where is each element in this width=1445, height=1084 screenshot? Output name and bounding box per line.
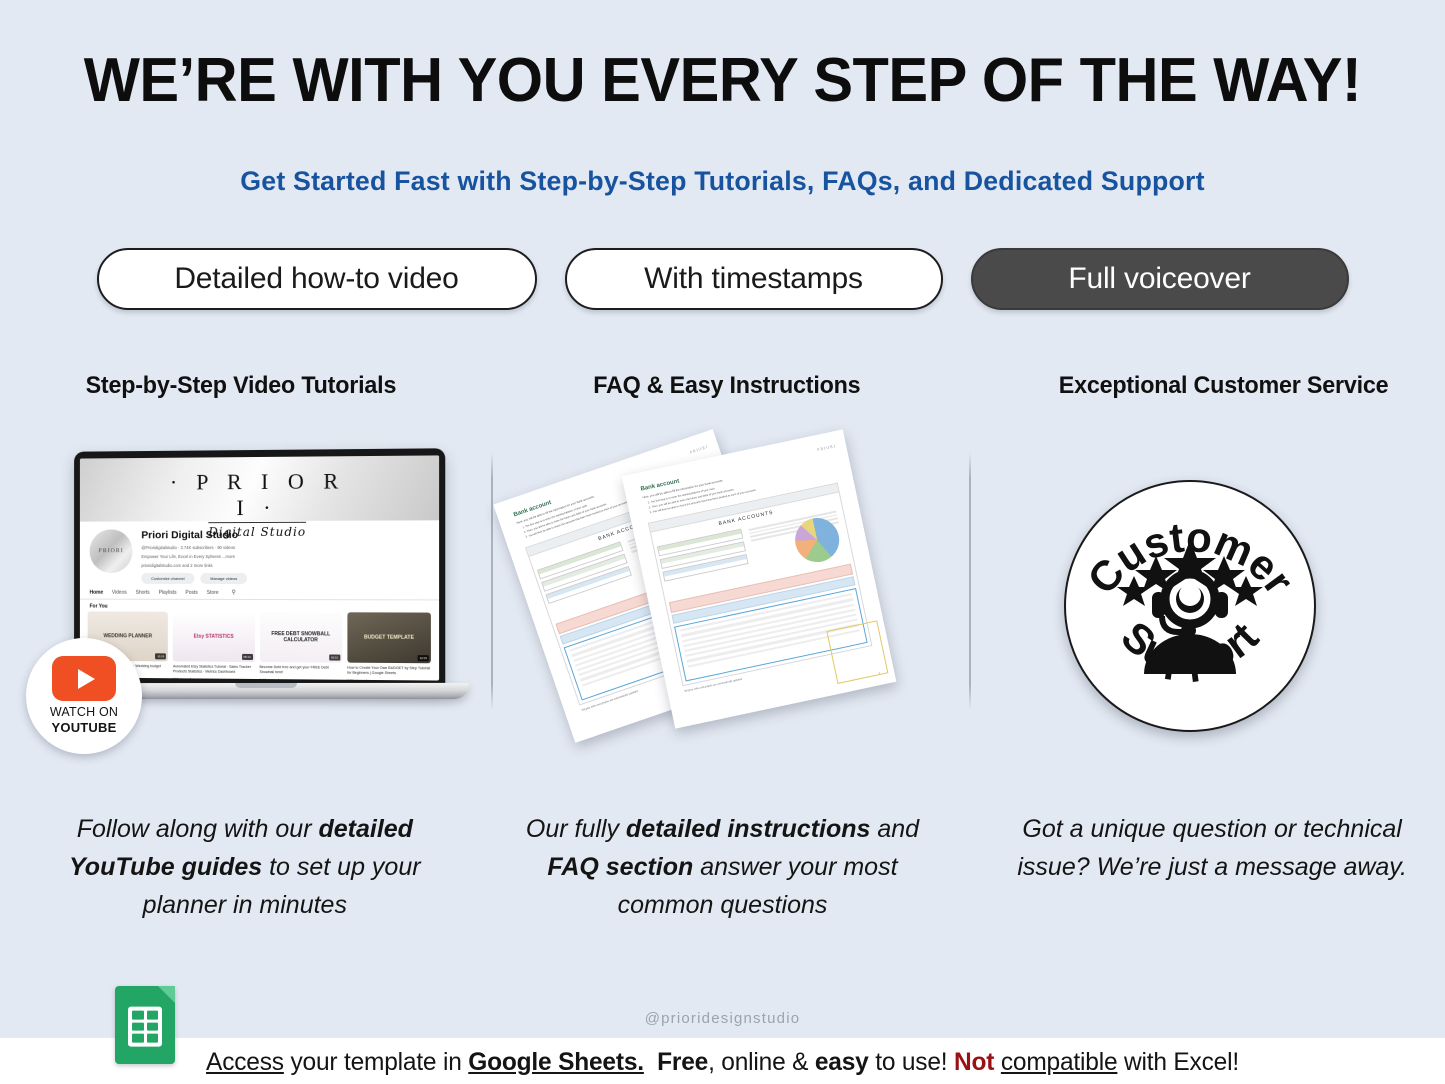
channel-tagline: Empower Your Life, Excel in Every Sphere… <box>141 553 429 560</box>
video-stats: 3.7K views · 1 year ago <box>347 679 431 681</box>
footer-part2: , online & <box>708 1048 815 1076</box>
caption-customer-service: Got a unique question or technical issue… <box>963 810 1445 924</box>
youtube-channel-screen: · P R I O R I · Digital Studio PRIORI Pr… <box>80 455 439 680</box>
column-heading-customer-service: Exceptional Customer Service <box>975 372 1445 400</box>
column-captions: Follow along with our detailed YouTube g… <box>0 810 1445 924</box>
video-duration: 12:03 <box>418 655 429 661</box>
column-heading-video-tutorials: Step-by-Step Video Tutorials <box>7 372 478 400</box>
channel-action-buttons: Customize channel Manage videos <box>141 573 429 584</box>
support-badge-graphic: Customer Support <box>1066 482 1314 730</box>
channel-avatar: PRIORI <box>90 529 133 573</box>
footer-not: Not <box>954 1048 994 1076</box>
caption-text: Our fully <box>526 815 626 843</box>
customer-support-circle: Customer Support <box>1064 480 1316 732</box>
caption-bold: FAQ section <box>547 853 693 881</box>
column-headings: Step-by-Step Video Tutorials FAQ & Easy … <box>0 372 1445 400</box>
google-sheets-icon <box>115 986 175 1064</box>
search-icon[interactable]: ⚲ <box>231 589 235 596</box>
brand-name: · P R I O R I · <box>168 468 348 521</box>
pill-detailed-how-to-video[interactable]: Detailed how-to video <box>97 248 537 310</box>
page-title: WE’RE WITH YOU EVERY STEP OF THE WAY! <box>29 46 1416 116</box>
video-card[interactable]: BUDGET TEMPLATE 12:03 How to Create Your… <box>347 612 431 680</box>
video-thumbnail[interactable]: BUDGET TEMPLATE 12:03 <box>347 612 431 663</box>
video-title: Become Debt free and get your FREE Debt … <box>259 665 342 677</box>
caption-faq: Our fully detailed instructions and FAQ … <box>482 810 964 924</box>
tab-shorts[interactable]: Shorts <box>136 589 150 595</box>
channel-links[interactable]: prioridigitalstudio.com and 2 more links <box>141 562 429 569</box>
caption-video-tutorials: Follow along with our detailed YouTube g… <box>0 810 482 924</box>
footer-easy: easy <box>815 1048 869 1076</box>
footer-compatible: compatible <box>1001 1048 1118 1076</box>
page-fold <box>158 986 175 1003</box>
tab-posts[interactable]: Posts <box>185 589 197 595</box>
channel-banner: · P R I O R I · Digital Studio <box>80 455 439 521</box>
footer-part1: your template in <box>284 1048 468 1076</box>
watch-badge-line1: WATCH ON <box>50 705 118 720</box>
video-card[interactable]: Etsy STATISTICS 08:14 Automated Etsy Sta… <box>173 612 254 681</box>
customize-channel-button[interactable]: Customize channel <box>141 573 194 584</box>
tab-store[interactable]: Store <box>207 589 219 595</box>
watermark-handle: @prioridesignstudio <box>0 1010 1445 1027</box>
pill-full-voiceover[interactable]: Full voiceover <box>971 248 1349 310</box>
video-duration: 08:14 <box>242 654 253 660</box>
footer-space2 <box>994 1048 1001 1076</box>
footer-spacer <box>644 1048 657 1076</box>
video-thumb-title: WEDDING PLANNER <box>103 633 152 639</box>
pill-with-timestamps[interactable]: With timestamps <box>565 248 943 310</box>
headset-agent-icon <box>1144 574 1236 674</box>
laptop-lid: · P R I O R I · Digital Studio PRIORI Pr… <box>74 448 445 689</box>
channel-tabs: Home Videos Shorts Playlists Posts Store… <box>80 586 439 601</box>
video-thumbnail[interactable]: Etsy STATISTICS 08:14 <box>173 612 254 662</box>
faq-document-mockup: PRIORI Bank account Here, you will be ab… <box>520 450 940 760</box>
watch-on-youtube-badge[interactable]: WATCH ON YOUTUBE <box>26 638 142 754</box>
footer-google-sheets: Google Sheets. <box>468 1048 644 1076</box>
video-title: Automated Etsy Statistics Tutorial · Sal… <box>173 664 254 675</box>
footer-free: Free <box>657 1048 708 1076</box>
caption-text: and <box>870 815 919 843</box>
footer-part3: to use! <box>869 1048 954 1076</box>
column-heading-faq: FAQ & Easy Instructions <box>493 372 960 400</box>
video-stats: 517 views · 1 year ago <box>173 677 254 680</box>
youtube-play-icon <box>52 656 116 701</box>
video-thumb-title: FREE DEBT SNOWBALL CALCULATOR <box>259 631 342 643</box>
channel-handle: @Prioridigitalstudio · 3.74K subscribers… <box>141 544 429 551</box>
footer-part4: with Excel! <box>1117 1048 1239 1076</box>
manage-videos-button[interactable]: Manage videos <box>200 573 247 584</box>
video-duration: 06:52 <box>329 654 340 660</box>
watch-badge-line2: YOUTUBE <box>52 720 117 736</box>
column-divider-right <box>969 452 971 710</box>
brand-tagline: Digital Studio <box>208 522 306 539</box>
customer-support-badge: Customer Support <box>1064 480 1336 730</box>
feature-pill-row: Detailed how-to video With timestamps Fu… <box>0 244 1445 314</box>
channel-banner-logo: · P R I O R I · Digital Studio <box>168 468 348 541</box>
video-thumb-title: BUDGET TEMPLATE <box>364 635 414 641</box>
video-title: How to Create Your Own BUDGET by Step Tu… <box>347 666 431 678</box>
video-stats: 1.6K views · 1 year ago <box>259 678 342 681</box>
poster-canvas: WE’RE WITH YOU EVERY STEP OF THE WAY! Ge… <box>0 0 1445 1084</box>
caption-text: Follow along with our <box>77 815 319 843</box>
tab-playlists[interactable]: Playlists <box>159 589 177 595</box>
caption-text: Got a unique question or technical issue… <box>1017 815 1407 881</box>
tab-videos[interactable]: Videos <box>112 589 127 595</box>
embedded-spreadsheet: BANK ACCOUNTS <box>648 483 872 687</box>
video-thumb-title: Etsy STATISTICS <box>194 634 234 640</box>
page-subtitle: Get Started Fast with Step-by-Step Tutor… <box>7 163 1438 199</box>
tab-home[interactable]: Home <box>90 589 104 595</box>
video-card[interactable]: FREE DEBT SNOWBALL CALCULATOR 06:52 Beco… <box>259 612 342 681</box>
column-divider-left <box>491 452 493 710</box>
video-thumbnail[interactable]: FREE DEBT SNOWBALL CALCULATOR 06:52 <box>259 612 342 663</box>
footer-compatibility-line: Access your template in Google Sheets. F… <box>14 1046 1430 1078</box>
caption-bold: detailed instructions <box>626 815 870 843</box>
footer-access: Access <box>206 1048 284 1076</box>
video-duration: 10:26 <box>155 653 166 659</box>
sheet-grid-glyph <box>128 1007 162 1047</box>
